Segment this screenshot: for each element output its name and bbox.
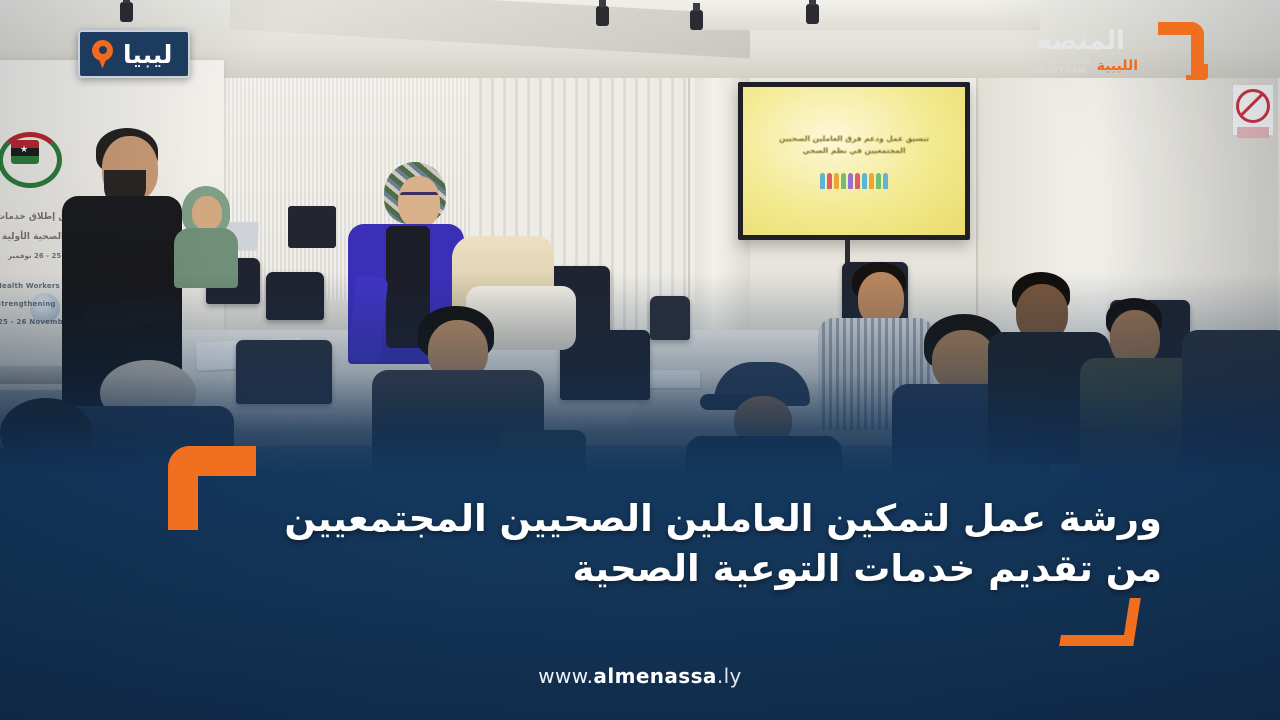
location-label: ليبيا: [123, 42, 172, 67]
footer-brand: almenassa: [593, 664, 716, 688]
logo-arabic-sub: الليبية: [1097, 59, 1138, 73]
footer-website[interactable]: www.almenassa.ly: [0, 664, 1280, 688]
decor-bracket-bottom-right: [1059, 598, 1141, 646]
headline-line-2: من تقديم خدمات التوعية الصحية: [202, 544, 1162, 594]
logo-bracket-icon: [1146, 22, 1208, 80]
logo-arabic-main: المنصة: [1037, 28, 1125, 54]
headline-line-1: ورشة عمل لتمكين العاملين الصحيين المجتمع…: [284, 497, 1162, 540]
logo-english-line1: THE LIBYAN: [1037, 57, 1091, 66]
footer-prefix: www.: [538, 664, 593, 688]
logo-english: THE LIBYAN PLATFORM: [1037, 57, 1091, 75]
location-badge[interactable]: ليبيا: [78, 30, 190, 78]
footer-tld: .ly: [717, 664, 742, 688]
social-media-card: تنسيق عمل ودعم فرق العاملين الصحيين المج…: [0, 0, 1280, 720]
map-pin-icon: [92, 40, 113, 69]
site-logo[interactable]: المنصة الليبية THE LIBYAN PLATFORM: [1037, 22, 1208, 80]
logo-english-line2: PLATFORM: [1037, 66, 1086, 75]
headline: ورشة عمل لتمكين العاملين الصحيين المجتمع…: [202, 494, 1162, 594]
logo-wordmark: المنصة الليبية THE LIBYAN PLATFORM: [1037, 28, 1138, 75]
